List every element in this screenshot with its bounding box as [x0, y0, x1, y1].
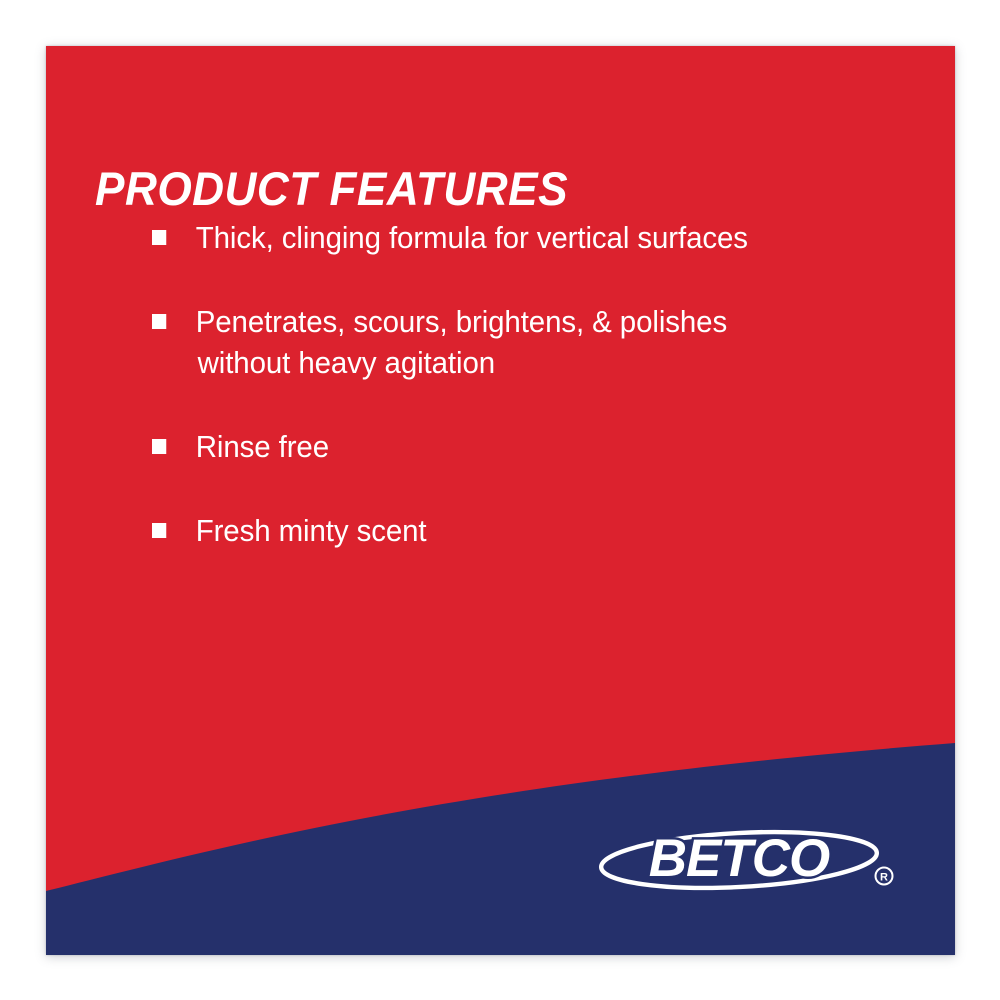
- feature-text: Rinse free: [196, 429, 329, 464]
- feature-text: Penetrates, scours, brightens, & polishe…: [196, 304, 727, 339]
- list-item: Penetrates, scours, brightens, & polishe…: [152, 302, 874, 383]
- list-item: Rinse free: [152, 427, 874, 467]
- square-bullet-icon: [152, 314, 166, 329]
- feature-text-continued: without heavy agitation: [198, 343, 874, 383]
- feature-list: Thick, clinging formula for vertical sur…: [152, 218, 912, 551]
- registered-trademark-icon: R: [876, 868, 893, 885]
- feature-text: Thick, clinging formula for vertical sur…: [196, 220, 748, 255]
- square-bullet-icon: [152, 230, 166, 245]
- square-bullet-icon: [152, 439, 166, 454]
- page-title: PRODUCT FEATURES: [95, 165, 568, 212]
- feature-text: Fresh minty scent: [196, 513, 427, 548]
- betco-wordmark: BETCO: [649, 829, 830, 888]
- betco-logo: BETCO R: [596, 824, 901, 896]
- page-canvas: PRODUCT FEATURES Thick, clinging formula…: [0, 0, 1000, 1000]
- list-item: Thick, clinging formula for vertical sur…: [152, 218, 874, 258]
- square-bullet-icon: [152, 523, 166, 538]
- list-item: Fresh minty scent: [152, 511, 874, 551]
- product-feature-card: PRODUCT FEATURES Thick, clinging formula…: [46, 46, 955, 955]
- svg-text:R: R: [880, 872, 888, 884]
